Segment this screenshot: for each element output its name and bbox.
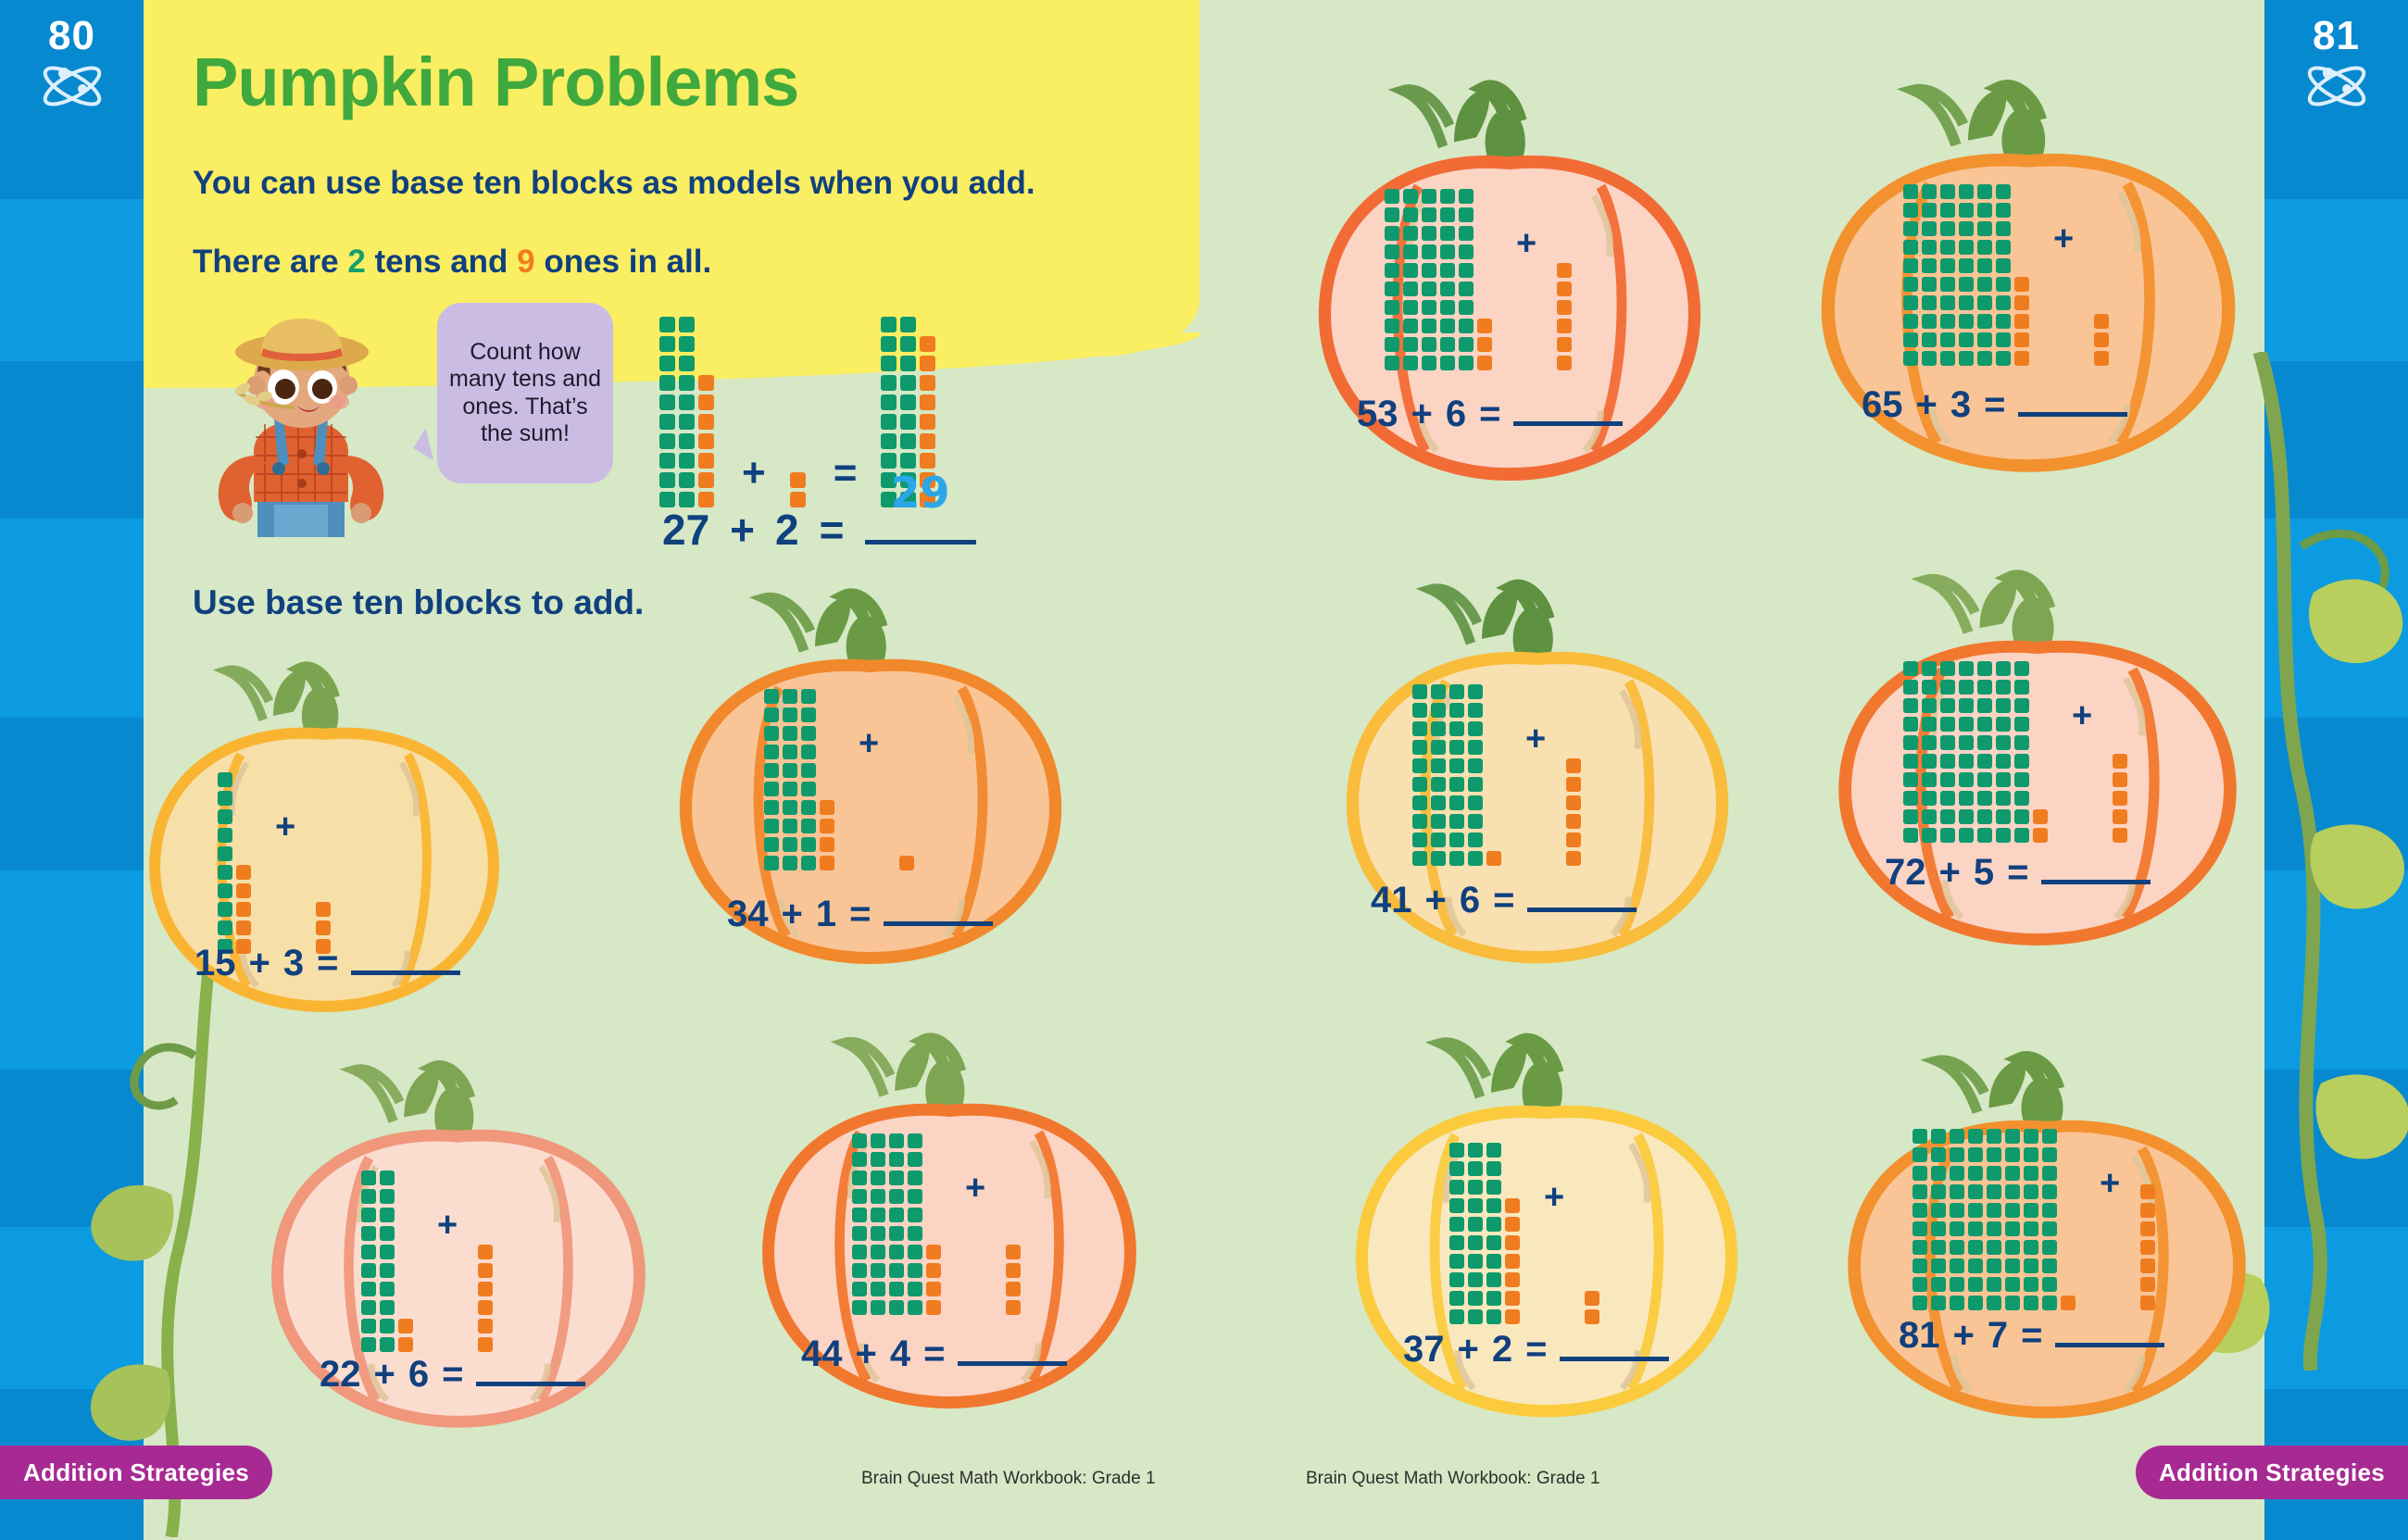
base-ten-block-model: + xyxy=(764,685,918,870)
ten-cube xyxy=(1959,717,1974,732)
ten-cube xyxy=(900,317,916,332)
ten-rod xyxy=(783,685,797,870)
one-cube xyxy=(920,453,935,469)
ten-rod xyxy=(852,1130,867,1315)
ten-cube xyxy=(783,726,797,741)
ten-cube xyxy=(1996,203,2011,218)
ten-cube xyxy=(1468,1217,1483,1232)
ten-cube xyxy=(783,707,797,722)
pumpkin-problem-content: +34+1= xyxy=(648,574,1093,991)
one-cube xyxy=(2113,754,2127,769)
ten-cube xyxy=(218,920,232,935)
ten-cube xyxy=(1903,277,1918,292)
ten-cube xyxy=(659,433,675,449)
ten-cube xyxy=(2042,1277,2057,1292)
ten-cube xyxy=(659,394,675,410)
ten-cube xyxy=(783,819,797,833)
ten-cube xyxy=(659,453,675,469)
ten-cube xyxy=(1996,351,2011,366)
addend2: 6 xyxy=(408,1354,429,1396)
ten-cube xyxy=(1903,828,1918,843)
ten-cube xyxy=(1422,207,1436,222)
ten-cube xyxy=(679,414,695,430)
one-cube xyxy=(698,453,714,469)
pumpkin-problem: +37+2= xyxy=(1324,1019,1769,1445)
second-addend-model xyxy=(1585,1287,1603,1324)
one-cube xyxy=(1505,1291,1520,1306)
ten-cube xyxy=(1959,295,1974,310)
first-addend-model xyxy=(852,1130,945,1315)
base-ten-block-model: + xyxy=(1903,657,2131,843)
answer-blank[interactable] xyxy=(2018,412,2127,417)
ten-rod xyxy=(2005,1125,2020,1310)
one-cube xyxy=(478,1263,493,1278)
ten-cube xyxy=(361,1189,376,1204)
first-addend-model xyxy=(1903,181,2033,366)
one-cube xyxy=(926,1245,941,1259)
ten-cube xyxy=(1431,795,1446,810)
base-ten-block-model: + xyxy=(218,769,334,954)
ten-cube xyxy=(908,1133,922,1148)
ten-cube xyxy=(1940,754,1955,769)
ten-cube xyxy=(2014,661,2029,676)
ten-cube xyxy=(1977,791,1992,806)
ten-cube xyxy=(1977,295,1992,310)
plus-operator: + xyxy=(275,808,295,847)
ten-cube xyxy=(871,1133,885,1148)
ten-cube xyxy=(1968,1184,1983,1199)
problem-equation: 44+4= xyxy=(801,1333,1067,1375)
ten-cube xyxy=(801,689,816,704)
ten-cube xyxy=(2014,828,2029,843)
ten-rod xyxy=(1449,681,1464,866)
ten-cube xyxy=(1903,295,1918,310)
ten-cube xyxy=(908,1263,922,1278)
plus-operator: + xyxy=(782,894,803,935)
ten-cube xyxy=(1922,772,1937,787)
ten-cube xyxy=(1385,337,1399,352)
ten-cube xyxy=(908,1245,922,1259)
ten-cube xyxy=(881,356,897,371)
addend2: 3 xyxy=(1950,384,1971,426)
ten-cube xyxy=(380,1208,395,1222)
example-equation: 27 + 2 = 29 xyxy=(662,505,976,555)
ten-cube xyxy=(2024,1258,2038,1273)
ten-rod xyxy=(1449,1139,1464,1324)
ten-rod xyxy=(1931,1125,1946,1310)
one-cube xyxy=(899,856,914,870)
ten-cube xyxy=(1959,203,1974,218)
ones-rod xyxy=(2061,1292,2076,1310)
ten-cube xyxy=(1931,1277,1946,1292)
ten-cube xyxy=(1486,1272,1501,1287)
ten-cube xyxy=(889,1226,904,1241)
one-cube xyxy=(2014,351,2029,366)
ten-cube xyxy=(1940,221,1955,236)
ten-cube xyxy=(783,689,797,704)
one-cube xyxy=(820,837,834,852)
fact-prefix: There are xyxy=(193,244,347,280)
ten-cube xyxy=(1968,1147,1983,1162)
ten-rod xyxy=(2042,1125,2057,1310)
ten-cube xyxy=(1385,356,1399,370)
plus-operator: + xyxy=(1544,1178,1564,1218)
ten-cube xyxy=(1922,295,1937,310)
ten-cube xyxy=(1922,735,1937,750)
ten-cube xyxy=(1903,661,1918,676)
ten-cube xyxy=(1940,680,1955,695)
one-cube xyxy=(920,394,935,410)
one-cube xyxy=(1557,356,1572,370)
ten-cube xyxy=(801,726,816,741)
ten-cube xyxy=(1403,282,1418,296)
ten-cube xyxy=(1959,680,1974,695)
ten-cube xyxy=(1922,314,1937,329)
ten-rod xyxy=(1996,181,2011,366)
plus-operator: + xyxy=(1516,224,1536,264)
ten-cube xyxy=(1422,319,1436,333)
ten-cube xyxy=(1468,1198,1483,1213)
ten-cube xyxy=(1996,258,2011,273)
ten-cube xyxy=(1403,189,1418,204)
one-cube xyxy=(478,1245,493,1259)
ten-cube xyxy=(889,1133,904,1148)
answer-blank[interactable] xyxy=(1560,1357,1669,1361)
ten-cube xyxy=(1959,258,1974,273)
ten-cube xyxy=(1385,282,1399,296)
one-cube xyxy=(2140,1184,2155,1199)
ten-cube xyxy=(2005,1296,2020,1310)
ten-cube xyxy=(1449,1309,1464,1324)
ten-cube xyxy=(1903,240,1918,255)
fact-suffix: ones in all. xyxy=(535,244,712,280)
ten-cube xyxy=(1422,263,1436,278)
ten-cube xyxy=(1459,319,1474,333)
ten-rod xyxy=(1903,181,1918,366)
ten-cube xyxy=(1940,661,1955,676)
ten-cube xyxy=(1987,1221,2001,1236)
ten-cube xyxy=(1940,828,1955,843)
pumpkin-problem: +81+7= xyxy=(1815,1037,2278,1445)
section-tab-left-label: Addition Strategies xyxy=(23,1459,249,1487)
ten-cube xyxy=(1449,795,1464,810)
ten-cube xyxy=(2005,1184,2020,1199)
ten-cube xyxy=(1931,1184,1946,1199)
pumpkin-problem-content: +15+3= xyxy=(120,648,528,1037)
ten-cube xyxy=(1431,851,1446,866)
ten-cube xyxy=(2042,1296,2057,1310)
ten-cube xyxy=(380,1319,395,1333)
ten-cube xyxy=(1913,1184,1927,1199)
ten-cube xyxy=(871,1226,885,1241)
one-cube xyxy=(2033,828,2048,843)
plus-operator: + xyxy=(2100,1164,2120,1204)
answer-blank[interactable] xyxy=(351,970,460,975)
ten-cube xyxy=(1977,184,1992,199)
ten-cube xyxy=(1449,1161,1464,1176)
one-cube xyxy=(2140,1296,2155,1310)
one-cube xyxy=(478,1337,493,1352)
plus-operator: + xyxy=(1411,394,1433,435)
one-cube xyxy=(236,920,251,935)
one-cube xyxy=(1566,777,1581,792)
ten-cube xyxy=(380,1245,395,1259)
right-edge-stripes xyxy=(2264,0,2408,1540)
answer-blank[interactable] xyxy=(1513,421,1623,426)
ten-cube xyxy=(1950,1184,1964,1199)
one-cube xyxy=(920,414,935,430)
answer-blank[interactable] xyxy=(884,921,993,926)
ten-cube xyxy=(1440,189,1455,204)
ten-cube xyxy=(1987,1258,2001,1273)
ten-cube xyxy=(889,1171,904,1185)
ten-cube xyxy=(1977,754,1992,769)
pumpkin-problem: +41+6= xyxy=(1315,565,1760,991)
ten-cube xyxy=(1431,758,1446,773)
ten-cube xyxy=(659,317,675,332)
ten-cube xyxy=(1459,226,1474,241)
pumpkin-problem-content: +81+7= xyxy=(1815,1037,2278,1445)
one-cube xyxy=(2113,772,2127,787)
ten-rod xyxy=(1468,681,1483,866)
ten-cube xyxy=(1431,721,1446,736)
ten-cube xyxy=(1913,1296,1927,1310)
ten-cube xyxy=(2042,1240,2057,1255)
ten-cube xyxy=(852,1189,867,1204)
ones-rod xyxy=(2113,750,2127,843)
ten-cube xyxy=(2005,1221,2020,1236)
ten-cube xyxy=(218,772,232,787)
ten-cube xyxy=(2042,1129,2057,1144)
answer-blank[interactable] xyxy=(1527,908,1637,912)
ten-cube xyxy=(659,472,675,488)
one-cube xyxy=(820,856,834,870)
one-cube xyxy=(790,472,806,488)
ten-cube xyxy=(1996,661,2011,676)
ten-cube xyxy=(1422,226,1436,241)
section-tab-right[interactable]: Addition Strategies xyxy=(2136,1446,2408,1499)
ten-rod xyxy=(801,685,816,870)
answer-blank[interactable] xyxy=(2055,1343,2164,1347)
ten-cube xyxy=(1968,1258,1983,1273)
ten-cube xyxy=(2024,1221,2038,1236)
ten-cube xyxy=(1940,698,1955,713)
one-cube xyxy=(2140,1240,2155,1255)
one-cube xyxy=(1585,1309,1599,1324)
ten-rod xyxy=(1977,657,1992,843)
ten-cube xyxy=(1913,1221,1927,1236)
answer-blank[interactable] xyxy=(476,1382,585,1386)
ten-cube xyxy=(1996,698,2011,713)
base-ten-block-model: + xyxy=(1913,1125,2159,1310)
ten-cube xyxy=(1431,833,1446,847)
ten-cube xyxy=(1412,814,1427,829)
ten-cube xyxy=(2005,1129,2020,1144)
one-cube xyxy=(698,472,714,488)
addend1: 22 xyxy=(320,1354,361,1396)
ten-cube xyxy=(1931,1129,1946,1144)
plus-operator: + xyxy=(374,1354,395,1396)
ten-cube xyxy=(2014,809,2029,824)
answer-blank[interactable] xyxy=(2041,880,2151,884)
farmer-character-icon xyxy=(185,315,417,537)
one-cube xyxy=(1505,1198,1520,1213)
ten-cube xyxy=(908,1282,922,1296)
ones-rod xyxy=(2094,310,2109,366)
ten-cube xyxy=(2024,1277,2038,1292)
one-cube xyxy=(926,1300,941,1315)
ten-cube xyxy=(1440,207,1455,222)
ten-cube xyxy=(1459,282,1474,296)
ten-cube xyxy=(1977,203,1992,218)
ten-cube xyxy=(801,837,816,852)
ten-cube xyxy=(881,375,897,391)
ten-cube xyxy=(1922,332,1937,347)
ten-cube xyxy=(1959,809,1974,824)
ten-cube xyxy=(2024,1129,2038,1144)
plus-operator: + xyxy=(1525,720,1546,759)
equals-operator: = xyxy=(834,450,858,496)
ten-cube xyxy=(1950,1203,1964,1218)
ten-cube xyxy=(1959,698,1974,713)
ten-cube xyxy=(679,375,695,391)
ten-cube xyxy=(1977,661,1992,676)
footer-right: Brain Quest Math Workbook: Grade 1 xyxy=(1306,1469,1600,1489)
first-addend-model xyxy=(764,685,838,870)
ten-cube xyxy=(1940,184,1955,199)
ten-cube xyxy=(764,819,779,833)
ten-cube xyxy=(1977,772,1992,787)
ten-cube xyxy=(852,1263,867,1278)
equals-operator: = xyxy=(1525,1329,1547,1371)
problem-equation: 72+5= xyxy=(1885,852,2151,894)
ten-cube xyxy=(1459,207,1474,222)
stripe-band xyxy=(0,1227,144,1389)
one-cube xyxy=(2094,351,2109,366)
ten-cube xyxy=(1913,1147,1927,1162)
ten-cube xyxy=(1449,1254,1464,1269)
ten-cube xyxy=(881,317,897,332)
ten-cube xyxy=(881,414,897,430)
ten-cube xyxy=(1950,1258,1964,1273)
ten-cube xyxy=(1959,754,1974,769)
ten-cube xyxy=(1459,300,1474,315)
ten-cube xyxy=(1940,351,1955,366)
example-answer-rule xyxy=(865,540,976,545)
ten-cube xyxy=(2014,772,2029,787)
ten-rod xyxy=(1486,1139,1501,1324)
example-addend1: 27 xyxy=(662,505,709,555)
ten-cube xyxy=(1940,772,1955,787)
pumpkin-problem-content: +37+2= xyxy=(1324,1019,1769,1445)
one-cube xyxy=(398,1337,413,1352)
ten-cube xyxy=(1922,754,1937,769)
addend2: 6 xyxy=(1460,880,1480,921)
ten-cube xyxy=(1486,1180,1501,1195)
ten-cube xyxy=(2024,1296,2038,1310)
ten-cube xyxy=(801,745,816,759)
equals-operator: = xyxy=(1984,384,2005,426)
ten-cube xyxy=(2042,1166,2057,1181)
ten-cube xyxy=(783,763,797,778)
ten-rod xyxy=(1959,657,1974,843)
base-ten-block-model: + xyxy=(1449,1139,1603,1324)
ten-cube xyxy=(1903,754,1918,769)
ten-cube xyxy=(1959,314,1974,329)
ten-cube xyxy=(1468,684,1483,699)
ten-cube xyxy=(1486,1254,1501,1269)
example-first-addend-model xyxy=(659,313,718,507)
ten-cube xyxy=(659,414,675,430)
ten-cube xyxy=(1968,1221,1983,1236)
ten-cube xyxy=(361,1300,376,1315)
ten-cube xyxy=(1940,332,1955,347)
ten-cube xyxy=(1468,1291,1483,1306)
ten-rod xyxy=(1385,185,1399,370)
ten-cube xyxy=(1913,1258,1927,1273)
ten-rod xyxy=(1903,657,1918,843)
ten-cube xyxy=(908,1300,922,1315)
ten-cube xyxy=(1431,740,1446,755)
ten-cube xyxy=(218,865,232,880)
ten-cube xyxy=(1468,1272,1483,1287)
ten-cube xyxy=(881,336,897,352)
plus-operator: + xyxy=(1953,1315,1975,1357)
ten-rod xyxy=(1940,657,1955,843)
ten-cube xyxy=(2042,1221,2057,1236)
ten-cube xyxy=(1950,1221,1964,1236)
ten-cube xyxy=(1468,758,1483,773)
ten-cube xyxy=(1459,356,1474,370)
ones-rod xyxy=(1585,1287,1599,1324)
second-addend-model xyxy=(2094,310,2113,366)
one-cube xyxy=(698,433,714,449)
pumpkin-problem: +15+3= xyxy=(120,648,528,1037)
section-tab-left[interactable]: Addition Strategies xyxy=(0,1446,272,1499)
ten-cube xyxy=(2014,791,2029,806)
ten-cube xyxy=(1996,828,2011,843)
ten-cube xyxy=(1431,777,1446,792)
stripe-band xyxy=(2264,519,2408,718)
plus-operator: + xyxy=(1939,852,1961,894)
ten-cube xyxy=(852,1245,867,1259)
ten-cube xyxy=(1968,1240,1983,1255)
ten-cube xyxy=(1996,332,2011,347)
ten-rod xyxy=(361,1167,376,1352)
ten-cube xyxy=(871,1245,885,1259)
ten-cube xyxy=(1959,661,1974,676)
fact-mid: tens and xyxy=(366,244,517,280)
answer-blank[interactable] xyxy=(958,1361,1067,1366)
ten-cube xyxy=(1903,332,1918,347)
ones-rod xyxy=(2014,273,2029,366)
ten-cube xyxy=(2024,1184,2038,1199)
ten-cube xyxy=(380,1226,395,1241)
ten-cube xyxy=(1468,1235,1483,1250)
ten-cube xyxy=(1968,1166,1983,1181)
ten-cube xyxy=(1922,809,1937,824)
page-title: Pumpkin Problems xyxy=(193,43,798,121)
ten-cube xyxy=(1987,1147,2001,1162)
ten-cube xyxy=(871,1171,885,1185)
ten-cube xyxy=(852,1226,867,1241)
fact-tens-value: 2 xyxy=(347,244,365,280)
ones-rod xyxy=(820,796,834,870)
ten-cube xyxy=(1940,258,1955,273)
one-cube xyxy=(1006,1263,1021,1278)
problem-equation: 34+1= xyxy=(727,894,993,935)
ten-cube xyxy=(1987,1166,2001,1181)
